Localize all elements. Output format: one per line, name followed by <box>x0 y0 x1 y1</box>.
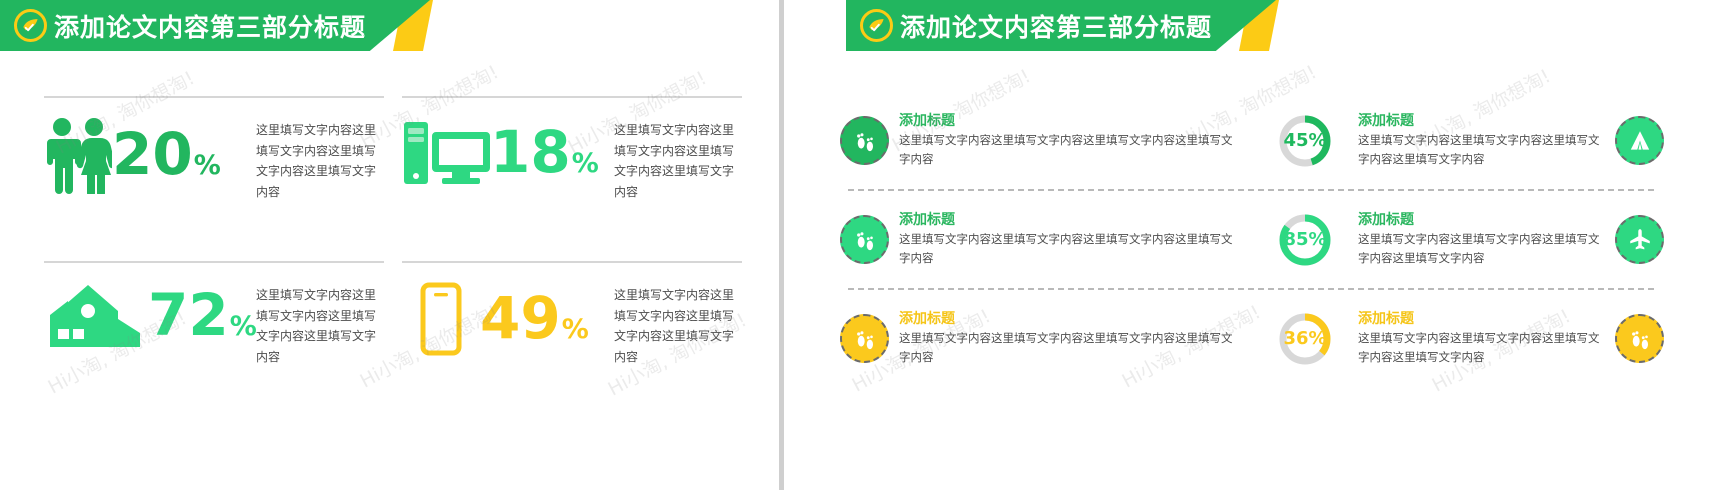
item-title: 添加标题 <box>899 310 1242 328</box>
stat-cell-people: 20% 这里填写文字内容这里填写文字内容这里填写文字内容这里填写文字内容 <box>44 96 384 203</box>
stat-number: 72 <box>148 288 229 343</box>
slide-right-title: 添加论文内容第三部分标题 <box>900 0 1212 51</box>
airplane-icon <box>1615 215 1664 264</box>
stat-percent-sign: % <box>562 317 589 343</box>
info-item-1[interactable]: 添加标题 这里填写文字内容这里填写文字内容这里填写文字内容这里填写文字内容 <box>784 112 1252 168</box>
stat-percent-sign: % <box>194 153 221 179</box>
item-body: 这里填写文字内容这里填写文字内容这里填写文字内容这里填写文字内容 <box>899 131 1242 168</box>
stat-number: 49 <box>480 291 561 346</box>
slide-left: 添加论文内容第三部分标题 <box>0 0 779 490</box>
item-body: 这里填写文字内容这里填写文字内容这里填写文字内容这里填写文字内容 <box>1358 230 1605 267</box>
item-title: 添加标题 <box>899 112 1242 130</box>
stat-value-computer: 18% <box>490 125 599 180</box>
footprints-icon <box>840 116 889 165</box>
stat-percent-sign: % <box>572 151 599 177</box>
info-row: 添加标题 这里填写文字内容这里填写文字内容这里填写文字内容这里填写文字内容 36… <box>784 290 1720 387</box>
donut-chart-45: 45% <box>1262 113 1348 169</box>
right-items-list: 添加标题 这里填写文字内容这里填写文字内容这里填写文字内容这里填写文字内容 45… <box>784 92 1720 387</box>
stat-number: 18 <box>490 125 571 180</box>
stat-percent-sign: % <box>230 314 257 340</box>
slide-deck: 添加论文内容第三部分标题 <box>0 0 1720 490</box>
footprints-icon <box>840 314 889 363</box>
stat-value-people: 20% <box>112 127 221 182</box>
item-title: 添加标题 <box>1358 310 1605 328</box>
stat-value-house: 72% <box>148 288 257 343</box>
item-body: 这里填写文字内容这里填写文字内容这里填写文字内容这里填写文字内容 <box>1358 131 1605 168</box>
house-icon <box>44 281 148 351</box>
left-stats-grid: 20% 这里填写文字内容这里填写文字内容这里填写文字内容这里填写文字内容 <box>44 96 744 396</box>
item-title: 添加标题 <box>899 211 1242 229</box>
donut-value: 45% <box>1277 113 1333 169</box>
stat-cell-computer: 18% 这里填写文字内容这里填写文字内容这里填写文字内容这里填写文字内容 <box>402 96 742 203</box>
footprints-icon <box>1615 314 1664 363</box>
stat-description: 这里填写文字内容这里填写文字内容这里填写文字内容这里填写文字内容 <box>256 281 384 368</box>
item-body: 这里填写文字内容这里填写文字内容这里填写文字内容这里填写文字内容 <box>899 329 1242 366</box>
phone-icon <box>402 281 480 357</box>
stat-cell-house: 72% 这里填写文字内容这里填写文字内容这里填写文字内容这里填写文字内容 <box>44 261 384 368</box>
item-body: 这里填写文字内容这里填写文字内容这里填写文字内容这里填写文字内容 <box>899 230 1242 267</box>
donut-value: 85% <box>1277 212 1333 268</box>
info-item-2[interactable]: 45% 添加标题 这里填写文字内容这里填写文字内容这里填写文字内容这里填写文字内… <box>1252 112 1720 168</box>
people-icon <box>44 116 112 194</box>
info-item-6[interactable]: 36% 添加标题 这里填写文字内容这里填写文字内容这里填写文字内容这里填写文字内… <box>1252 310 1720 366</box>
info-item-5[interactable]: 添加标题 这里填写文字内容这里填写文字内容这里填写文字内容这里填写文字内容 <box>784 310 1252 366</box>
item-title: 添加标题 <box>1358 211 1605 229</box>
donut-value: 36% <box>1277 311 1333 367</box>
info-row: 添加标题 这里填写文字内容这里填写文字内容这里填写文字内容这里填写文字内容 85… <box>784 191 1720 288</box>
leaf-check-icon <box>14 9 47 42</box>
stat-value-phone: 49% <box>480 291 589 346</box>
leaf-check-icon <box>860 9 893 42</box>
info-item-3[interactable]: 添加标题 这里填写文字内容这里填写文字内容这里填写文字内容这里填写文字内容 <box>784 211 1252 267</box>
stat-description: 这里填写文字内容这里填写文字内容这里填写文字内容这里填写文字内容 <box>256 116 384 203</box>
stat-description: 这里填写文字内容这里填写文字内容这里填写文字内容这里填写文字内容 <box>614 281 742 368</box>
stat-description: 这里填写文字内容这里填写文字内容这里填写文字内容这里填写文字内容 <box>614 116 742 203</box>
footprints-icon <box>840 215 889 264</box>
slide-right: 添加论文内容第三部分标题 <box>784 0 1720 490</box>
stat-cell-phone: 49% 这里填写文字内容这里填写文字内容这里填写文字内容这里填写文字内容 <box>402 261 742 368</box>
stat-number: 20 <box>112 127 193 182</box>
item-title: 添加标题 <box>1358 112 1605 130</box>
info-item-4[interactable]: 85% 添加标题 这里填写文字内容这里填写文字内容这里填写文字内容这里填写文字内… <box>1252 211 1720 267</box>
donut-chart-36: 36% <box>1262 311 1348 367</box>
item-body: 这里填写文字内容这里填写文字内容这里填写文字内容这里填写文字内容 <box>1358 329 1605 366</box>
donut-chart-85: 85% <box>1262 212 1348 268</box>
info-row: 添加标题 这里填写文字内容这里填写文字内容这里填写文字内容这里填写文字内容 45… <box>784 92 1720 189</box>
tent-icon <box>1615 116 1664 165</box>
computer-icon <box>402 116 490 190</box>
slide-left-title: 添加论文内容第三部分标题 <box>54 0 366 51</box>
